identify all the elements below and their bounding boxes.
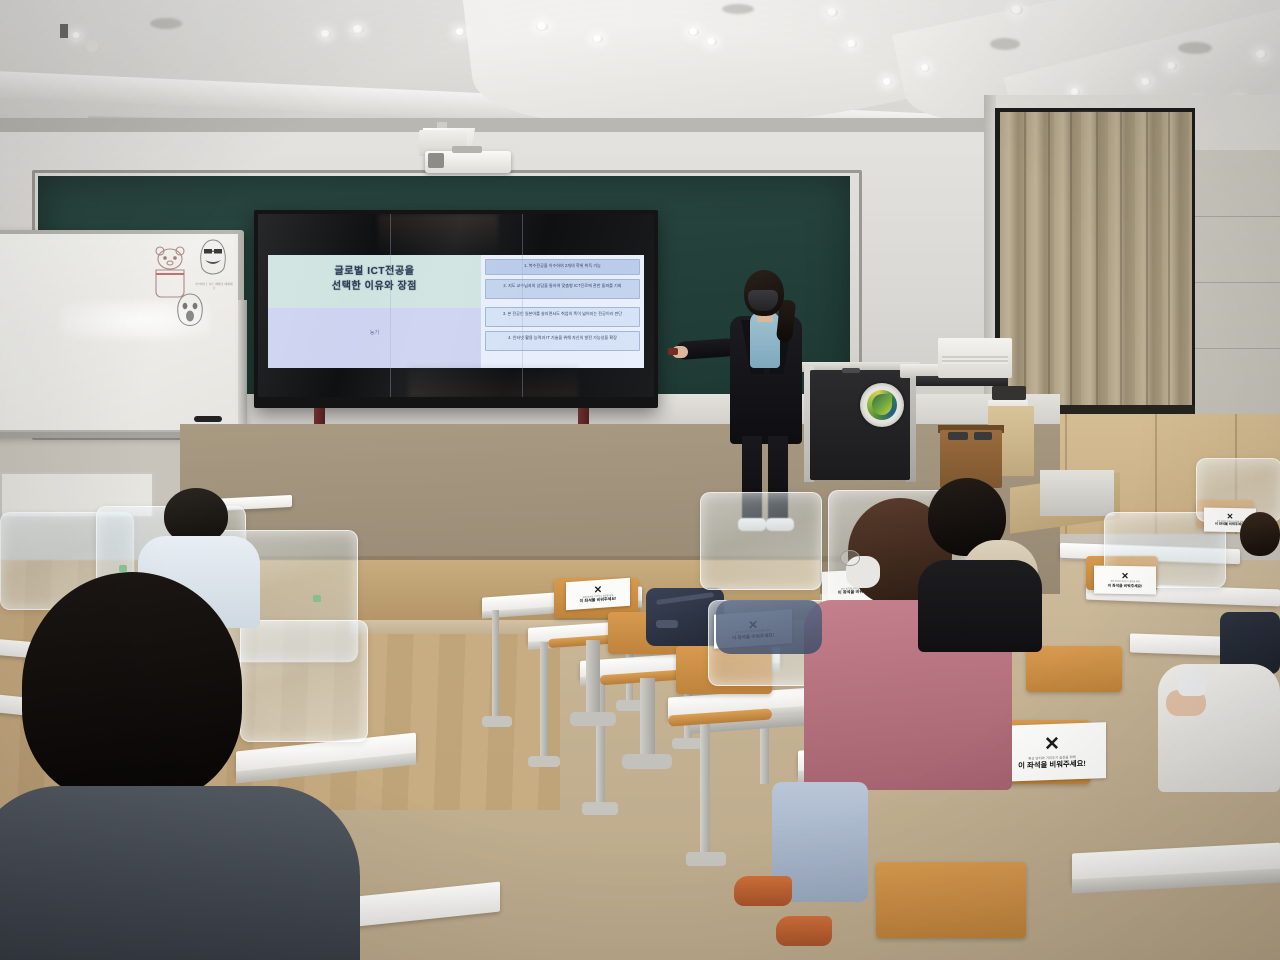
- ceiling-light: [920, 64, 930, 72]
- chair-base: [622, 754, 672, 769]
- screen-reflection-lower: [408, 364, 578, 397]
- ceiling-vent: [150, 18, 182, 29]
- acrylic-divider: [240, 620, 368, 742]
- ceiling-light: [846, 40, 857, 48]
- student-chair[interactable]: [876, 862, 1026, 938]
- ceiling-light: [1010, 5, 1023, 15]
- x-mark-icon: ✕: [594, 585, 602, 596]
- desk-foot: [582, 802, 618, 815]
- slide-bullet: 2. 지도 교수님과의 상담을 통하여 맞춤형 ICT진로에 관한 돌파를 기회: [485, 279, 640, 299]
- air-conditioner-unit: [938, 338, 1012, 378]
- eyeglasses-icon: [840, 550, 860, 566]
- stage-side-block: [1040, 470, 1114, 516]
- desk-leg: [540, 642, 548, 760]
- ceiling-vent: [1178, 42, 1212, 54]
- student-body: [0, 786, 360, 960]
- slide-bullet: 1. 복수전공을 이수하여 2개의 학위 취득 가능: [485, 259, 640, 275]
- desk-foot: [482, 716, 512, 727]
- ceiling-light: [536, 22, 548, 31]
- ceiling-light: [688, 28, 699, 36]
- held-object: [1178, 674, 1206, 696]
- ceiling-light: [1255, 50, 1267, 59]
- slide-body-panel: [268, 308, 481, 368]
- screen-reflection: [378, 214, 498, 254]
- ceiling-light: [320, 30, 331, 38]
- whiteboard: 어?어어ㅓ 아ㅏ 헤헤ㅔ 에에에ㅔ: [0, 234, 238, 430]
- ceiling-light: [72, 32, 81, 39]
- slide-bullet: 3. 본 전공인 일본어를 살리면서도 취업의 폭이 넓어지는 전공이라 판단: [485, 307, 640, 327]
- slide-subtitle: 능기: [276, 329, 473, 336]
- student-chair[interactable]: [1026, 646, 1122, 692]
- ceiling-vent: [722, 4, 754, 14]
- screen-seam: [390, 214, 391, 397]
- projector-vent: [452, 146, 482, 153]
- display-screen[interactable]: 1. 복수전공을 이수하여 2개의 학위 취득 가능 2. 지도 교수님과의 상…: [258, 214, 654, 397]
- ceiling-light: [592, 35, 603, 43]
- podium-mic: [842, 368, 860, 373]
- face-doodle-icon: [196, 238, 230, 282]
- desk-leg: [492, 610, 499, 720]
- ceiling-sensor: [60, 24, 68, 38]
- seat-closed-sign: ✕ 확산 방지와 거리두기 실천을 위해 이 좌석을 비워주세요!: [566, 578, 630, 610]
- student-body: [918, 560, 1042, 652]
- ceiling-light: [1166, 62, 1177, 70]
- slide-title-line2: 선택한 이유와 장점: [276, 279, 473, 294]
- screaming-face-doodle-icon: [174, 292, 206, 332]
- projector-lens: [428, 153, 444, 168]
- seat-closed-sign: ✕ 확산 방지와 거리두기 실천을 위해 이 좌석을 비워주세요!: [1094, 565, 1156, 594]
- student-head: [1240, 512, 1280, 556]
- ceiling-vent: [990, 38, 1020, 50]
- presentation-clicker[interactable]: [668, 348, 678, 355]
- student-head: [22, 572, 242, 802]
- chair-post: [586, 640, 600, 718]
- cabinet-device: [948, 432, 968, 440]
- desk-foot: [528, 756, 560, 767]
- whiteboard-doodle-text: 어?어어ㅓ 아ㅏ 헤헤ㅔ 에에에ㅔ: [194, 282, 234, 290]
- chair-post: [640, 678, 655, 762]
- student-body: [1158, 664, 1280, 792]
- ceiling-light: [352, 25, 364, 34]
- ceiling-light: [826, 8, 838, 17]
- bag-buckle: [656, 620, 678, 628]
- presentation-slide: 1. 복수전공을 이수하여 2개의 학위 취득 가능 2. 지도 교수님과의 상…: [268, 255, 644, 368]
- equipment-box-dark: [992, 386, 1026, 400]
- student-shoe: [734, 876, 792, 906]
- university-seal-icon: [860, 383, 904, 427]
- lecture-hall-photo: 어?어어ㅓ 아ㅏ 헤헤ㅔ 에에에ㅔ 1. 복수전공을 이수하여 2개의 학위 취…: [0, 0, 1280, 960]
- x-mark-icon: ✕: [1121, 572, 1129, 581]
- student-shoe: [776, 916, 832, 946]
- ceiling-light: [455, 28, 465, 36]
- seat-closed-sign: ✕ 확산 방지와 거리두기 실천을 위해 이 좌석을 비워주세요!: [998, 722, 1106, 782]
- desk-leg: [700, 718, 710, 858]
- cabinet-device: [974, 432, 992, 440]
- wall-trim: [0, 118, 1000, 132]
- window-curtain: [1000, 112, 1192, 410]
- ceiling-light: [706, 38, 717, 46]
- desk-foot: [686, 852, 726, 866]
- seat-sign-main-text: 이 좌석을 비워주세요!: [1096, 583, 1154, 588]
- slide-title-line1: 글로벌 ICT전공을: [276, 264, 473, 279]
- whiteboard-marker[interactable]: [194, 416, 222, 422]
- slide-bullet: 4. 인터넷 활용 능력과 IT 기술을 위해 자신의 발전 가능성을 확장: [485, 331, 640, 351]
- ceiling-speaker: [86, 40, 98, 52]
- slide-bullets-panel: 1. 복수전공을 이수하여 2개의 학위 취득 가능 2. 지도 교수님과의 상…: [481, 255, 644, 368]
- jacket-on-chair: [716, 600, 822, 654]
- ceiling-light: [882, 78, 892, 86]
- chair-base: [570, 712, 616, 726]
- acrylic-divider: [700, 492, 822, 590]
- ceiling-light: [1140, 78, 1151, 86]
- screen-seam: [522, 214, 523, 397]
- x-mark-icon: ✕: [1044, 735, 1060, 755]
